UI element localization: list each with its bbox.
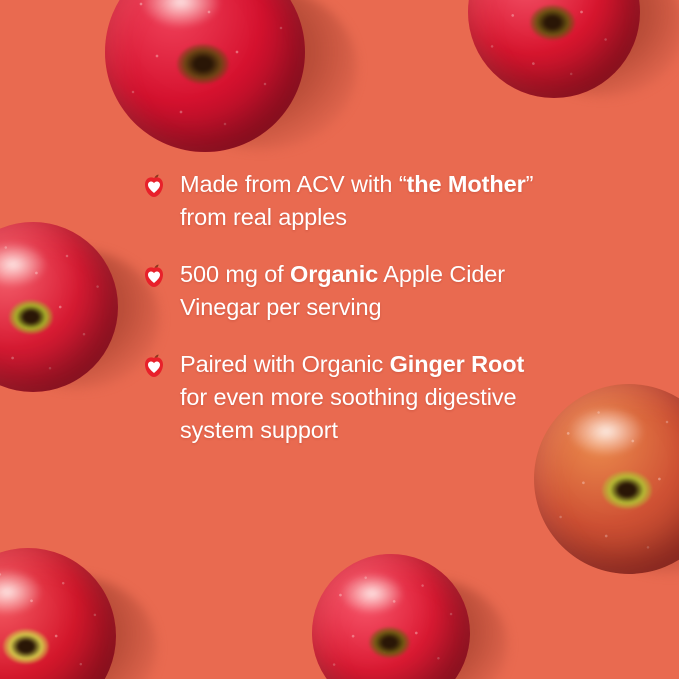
apple-with-heart-icon xyxy=(144,264,164,288)
apple-left-middle-highlight xyxy=(0,242,47,286)
apple-with-heart-icon xyxy=(144,354,164,378)
benefits-list: Made from ACV with “the Mother” from rea… xyxy=(144,168,544,471)
product-benefits-image: Made from ACV with “the Mother” from rea… xyxy=(0,0,679,679)
list-item: 500 mg of Organic Apple Cider Vinegar pe… xyxy=(144,258,544,324)
apple-left-middle-calyx xyxy=(9,300,53,334)
apple-right-middle-lenticels xyxy=(534,384,679,574)
apple-right-middle-calyx xyxy=(602,471,651,509)
apple-bottom-left-lenticels xyxy=(0,548,116,679)
body-text: 500 mg of xyxy=(180,261,290,287)
body-text: Made from ACV with “ xyxy=(180,171,407,197)
apple-bottom-center-body xyxy=(312,554,470,679)
apple-top-left-calyx xyxy=(177,44,229,84)
list-item-text: Made from ACV with “the Mother” from rea… xyxy=(180,168,544,234)
apple-with-heart-icon xyxy=(144,174,164,198)
apple-bottom-left-body xyxy=(0,548,116,679)
list-item: Made from ACV with “the Mother” from rea… xyxy=(144,168,544,234)
emphasis-text: Ginger Root xyxy=(390,351,525,377)
apple-bottom-left-highlight xyxy=(0,569,42,615)
apple-bottom-left-calyx xyxy=(3,629,49,664)
apple-top-left-highlight xyxy=(141,0,221,28)
apple-left-middle xyxy=(0,222,118,392)
apple-right-middle-body xyxy=(534,384,679,574)
apple-top-left xyxy=(105,0,305,152)
emphasis-text: Organic xyxy=(290,261,378,287)
apple-top-right-calyx xyxy=(530,5,575,39)
list-item-text: Paired with Organic Ginger Root for even… xyxy=(180,348,544,447)
apple-right-middle xyxy=(534,384,679,574)
list-item: Paired with Organic Ginger Root for even… xyxy=(144,348,544,447)
apple-right-middle-highlight xyxy=(568,407,644,456)
emphasis-text: the Mother xyxy=(407,171,526,197)
apple-bottom-left xyxy=(0,548,116,679)
apple-bottom-center-highlight xyxy=(340,573,403,614)
apple-bottom-center-lenticels xyxy=(312,554,470,679)
apple-top-right xyxy=(468,0,640,98)
apple-bottom-center xyxy=(312,554,470,679)
body-text: Paired with Organic xyxy=(180,351,390,377)
body-text: for even more soothing digestive system … xyxy=(180,384,516,443)
apple-bottom-center-calyx xyxy=(369,627,410,659)
list-item-text: 500 mg of Organic Apple Cider Vinegar pe… xyxy=(180,258,544,324)
